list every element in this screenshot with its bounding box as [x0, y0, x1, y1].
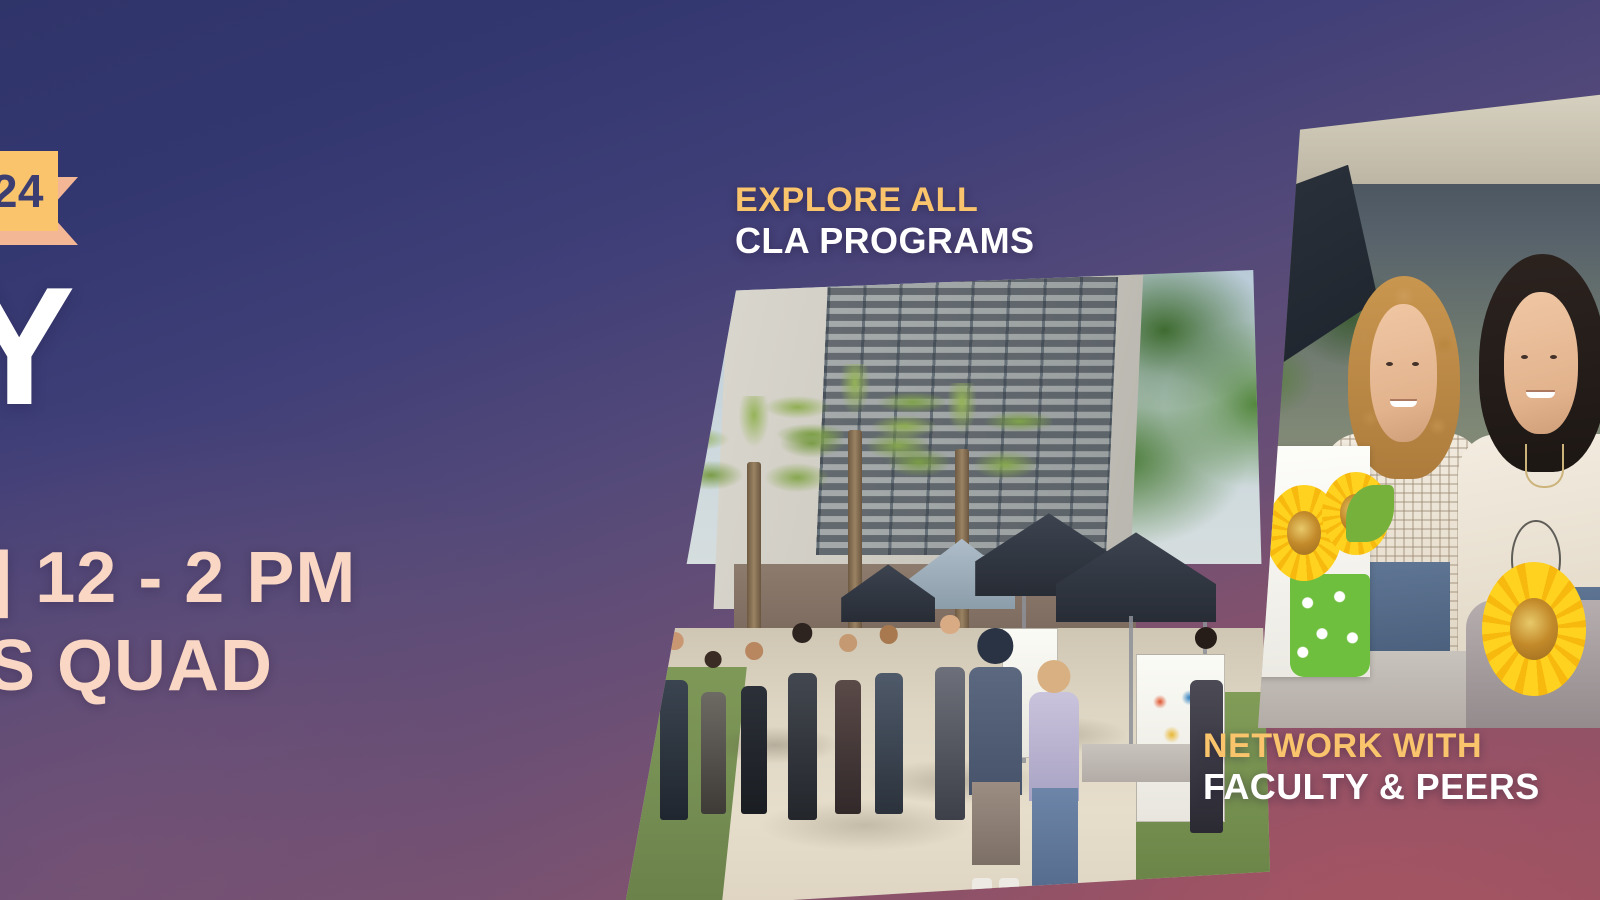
sunflower [1482, 562, 1586, 696]
person-head [940, 615, 960, 635]
person [835, 680, 862, 814]
eye [1412, 362, 1419, 366]
person [741, 686, 768, 814]
student-face [1504, 292, 1578, 434]
person [935, 667, 965, 821]
network-faculty-caption: NETWORK WITH FACULTY & PEERS [1203, 728, 1540, 807]
campus-fair-scene [600, 270, 1270, 900]
event-datetime: 16 | 12 - 2 PM [0, 542, 356, 614]
page-title: DAY [0, 268, 74, 426]
person-head [665, 632, 684, 651]
explore-programs-caption: EXPLORE ALL CLA PROGRAMS [735, 182, 1034, 261]
person-head [839, 634, 857, 652]
person [875, 673, 903, 814]
ribbon-box-shape: 24 [0, 151, 58, 231]
event-location: MPUS QUAD [0, 630, 273, 702]
caption-kicker: EXPLORE ALL [735, 182, 1034, 219]
event-banner: 24 DAY 16 | 12 - 2 PM MPUS QUAD [0, 0, 1600, 900]
polka-dot-pot [1290, 574, 1370, 676]
caption-text: FACULTY & PEERS [1203, 768, 1540, 807]
person-shorts [972, 782, 1020, 865]
person-foreground [1029, 692, 1079, 801]
smile [1390, 401, 1417, 407]
students-booth-photo [1258, 88, 1600, 728]
smile [1526, 392, 1556, 398]
person-head [745, 642, 763, 660]
person-jeans [1032, 788, 1078, 900]
caption-text: CLA PROGRAMS [735, 222, 1034, 261]
campus-fair-photo [600, 270, 1270, 900]
person [788, 673, 817, 820]
person-foreground [969, 667, 1023, 795]
year-ribbon: 24 [0, 151, 170, 245]
ribbon-year-label: 24 [0, 168, 44, 214]
person-shoe [972, 878, 992, 900]
necklace [1525, 444, 1564, 489]
eye [1550, 355, 1557, 359]
person [660, 680, 688, 821]
caption-kicker: NETWORK WITH [1203, 728, 1540, 765]
booth-table [1082, 744, 1189, 782]
student-face [1370, 304, 1437, 442]
person-head [705, 651, 722, 668]
person-shoe [999, 878, 1019, 900]
person-head [879, 625, 898, 644]
eye [1521, 355, 1528, 359]
person [701, 692, 726, 814]
eye [1386, 362, 1393, 366]
students-booth-scene [1258, 88, 1600, 728]
